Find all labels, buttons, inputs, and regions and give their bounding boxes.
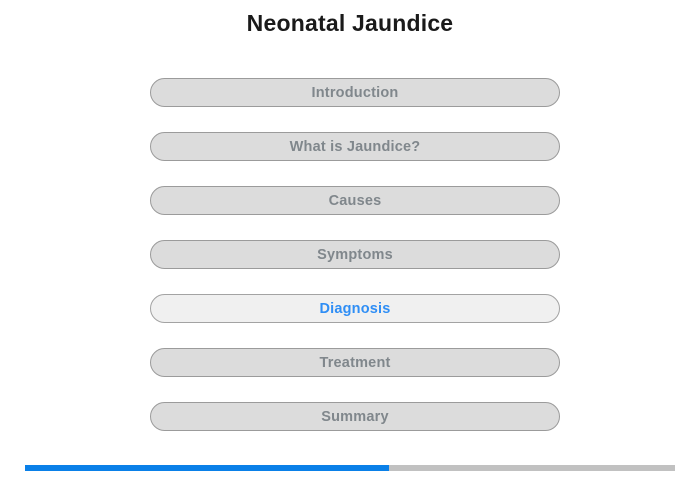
menu-item-causes[interactable]: Causes bbox=[150, 186, 560, 215]
menu-item-label: Causes bbox=[329, 193, 382, 209]
menu-item-label: Symptoms bbox=[317, 247, 393, 263]
menu-item-what-is-jaundice[interactable]: What is Jaundice? bbox=[150, 132, 560, 161]
progress-bar-track[interactable] bbox=[25, 465, 675, 471]
menu-item-diagnosis[interactable]: Diagnosis bbox=[150, 294, 560, 323]
menu-item-treatment[interactable]: Treatment bbox=[150, 348, 560, 377]
menu-item-introduction[interactable]: Introduction bbox=[150, 78, 560, 107]
section-menu: Introduction What is Jaundice? Causes Sy… bbox=[150, 78, 560, 431]
menu-item-label: Diagnosis bbox=[319, 301, 390, 317]
menu-item-label: Summary bbox=[321, 409, 389, 425]
menu-item-label: Treatment bbox=[319, 355, 390, 371]
menu-item-label: Introduction bbox=[312, 85, 399, 101]
menu-item-summary[interactable]: Summary bbox=[150, 402, 560, 431]
menu-item-symptoms[interactable]: Symptoms bbox=[150, 240, 560, 269]
slide-root: Neonatal Jaundice Introduction What is J… bbox=[0, 0, 700, 480]
progress-bar-fill bbox=[25, 465, 389, 471]
menu-item-label: What is Jaundice? bbox=[290, 139, 421, 155]
page-title: Neonatal Jaundice bbox=[0, 8, 700, 38]
